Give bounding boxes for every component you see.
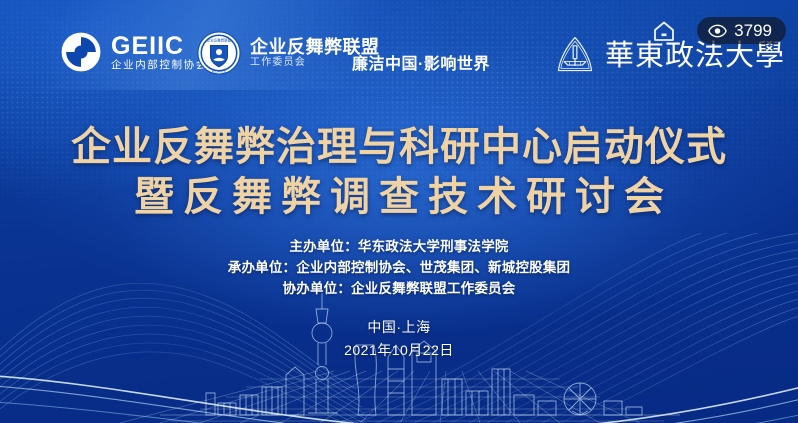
organizer-host: 主办单位：华东政法大学刑事法学院 — [289, 236, 508, 257]
page-title-line-1: 企业反舞弊治理与科研中心启动仪式 — [0, 122, 798, 172]
geiic-logo-text: GEIIC 企业内部控制协会 — [111, 34, 208, 71]
geiic-aperture-mark-icon — [60, 31, 102, 73]
event-poster: GEIIC 企业内部控制协会 企业反舞弊联盟 ALLIANCE 企业反舞弊联盟 … — [0, 0, 798, 423]
view-count-value: 3799 — [734, 22, 772, 39]
ecupl-crest-icon — [553, 33, 597, 77]
event-date: 2021年10月22日 — [0, 339, 798, 362]
home-icon-container[interactable] — [652, 20, 676, 42]
header-slogan: 廉洁中国·影响世界 — [352, 50, 490, 74]
organizer-coorganizer: 协办单位：企业反舞弊联盟工作委员会 — [283, 278, 516, 299]
logo-geiic: GEIIC 企业内部控制协会 — [60, 31, 208, 73]
alliance-seal-shield-icon: 企业反舞弊联盟 ALLIANCE — [196, 30, 242, 76]
poster-title-block: 企业反舞弊治理与科研中心启动仪式 暨反舞弊调查技术研讨会 — [0, 122, 798, 222]
eye-icon — [708, 24, 727, 38]
event-location: 中国·上海 — [0, 316, 798, 339]
perspective-grid-floor — [0, 353, 798, 423]
page-title-line-2: 暨反舞弊调查技术研讨会 — [0, 172, 798, 222]
home-icon[interactable] — [652, 20, 676, 42]
event-meta-block: 中国·上海 2021年10月22日 — [0, 316, 798, 362]
geiic-chinese-name: 企业内部控制协会 — [111, 60, 208, 71]
poster-header: GEIIC 企业内部控制协会 企业反舞弊联盟 ALLIANCE 企业反舞弊联盟 … — [0, 0, 798, 104]
geiic-english-name: GEIIC — [111, 34, 208, 59]
svg-text:企业反舞弊联盟: 企业反舞弊联盟 — [207, 38, 232, 43]
organizers-block: 主办单位：华东政法大学刑事法学院 承办单位：企业内部控制协会、世茂集团、新城控股… — [0, 236, 798, 299]
view-count-badge: 3799 — [697, 17, 786, 44]
organizer-undertaker: 承办单位：企业内部控制协会、世茂集团、新城控股集团 — [228, 257, 571, 278]
svg-text:ALLIANCE: ALLIANCE — [212, 70, 227, 74]
